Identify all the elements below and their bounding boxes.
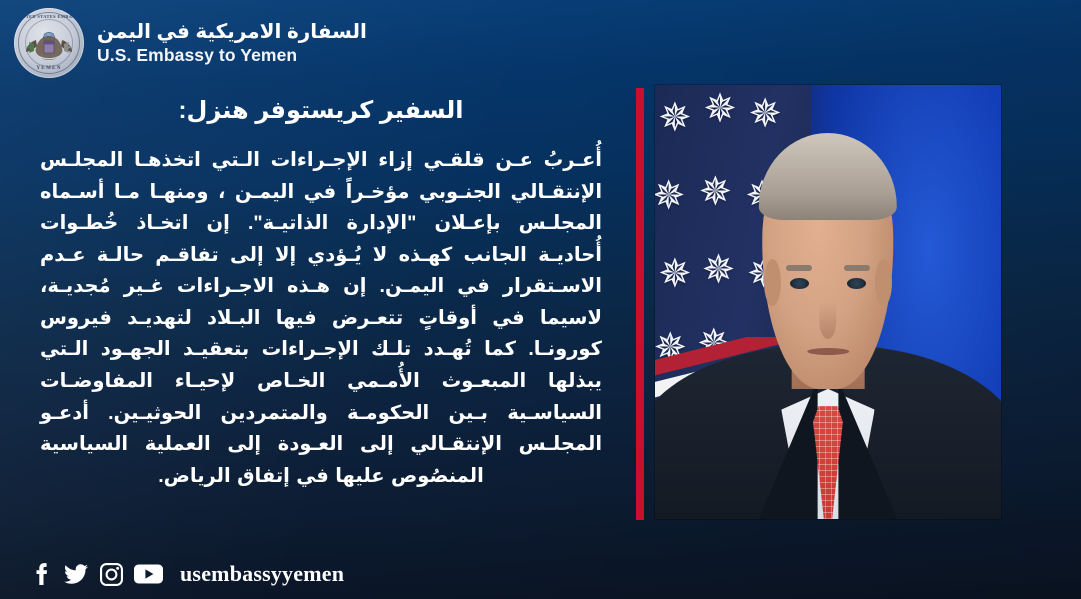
embassy-title-arabic: السفارة الامريكية في اليمن xyxy=(97,21,367,43)
quote-body-text: أُعـربُ عـن قلقـي إزاء الإجـراءات الـتي … xyxy=(40,145,602,492)
embassy-branding-header: UNITED STATES EMBASSY YEMEN السفارة الام… xyxy=(14,8,367,78)
seal-top-text: UNITED STATES EMBASSY xyxy=(14,14,84,19)
red-accent-rule xyxy=(636,88,644,520)
ambassador-portrait-photo: ✵ ✵ ✵ ✵ ✵ ✵ ✵ ✵ ✵ ✵ ✵ xyxy=(655,85,1001,519)
seal-bottom-text: YEMEN xyxy=(14,65,84,71)
portrait-ear-right xyxy=(875,259,892,307)
quote-block: السفير كريستوفر هنزل: أُعـربُ عـن قلقـي … xyxy=(40,96,602,492)
facebook-icon[interactable] xyxy=(33,562,53,586)
portrait-mouth xyxy=(807,348,849,355)
instagram-icon[interactable] xyxy=(100,563,123,586)
portrait-eyebrow-right xyxy=(844,265,870,272)
social-handle: usembassyyemen xyxy=(180,561,344,587)
social-media-graphic: UNITED STATES EMBASSY YEMEN السفارة الام… xyxy=(0,0,1081,599)
portrait-eyebrow-left xyxy=(786,265,812,272)
us-embassy-yemen-seal-icon: UNITED STATES EMBASSY YEMEN xyxy=(14,8,84,78)
social-media-footer: usembassyyemen xyxy=(33,561,344,587)
twitter-icon[interactable] xyxy=(64,562,89,586)
youtube-icon[interactable] xyxy=(134,563,163,585)
quote-heading: السفير كريستوفر هنزل: xyxy=(40,96,602,125)
embassy-title-english: U.S. Embassy to Yemen xyxy=(97,46,367,66)
embassy-titles: السفارة الامريكية في اليمن U.S. Embassy … xyxy=(97,21,367,66)
